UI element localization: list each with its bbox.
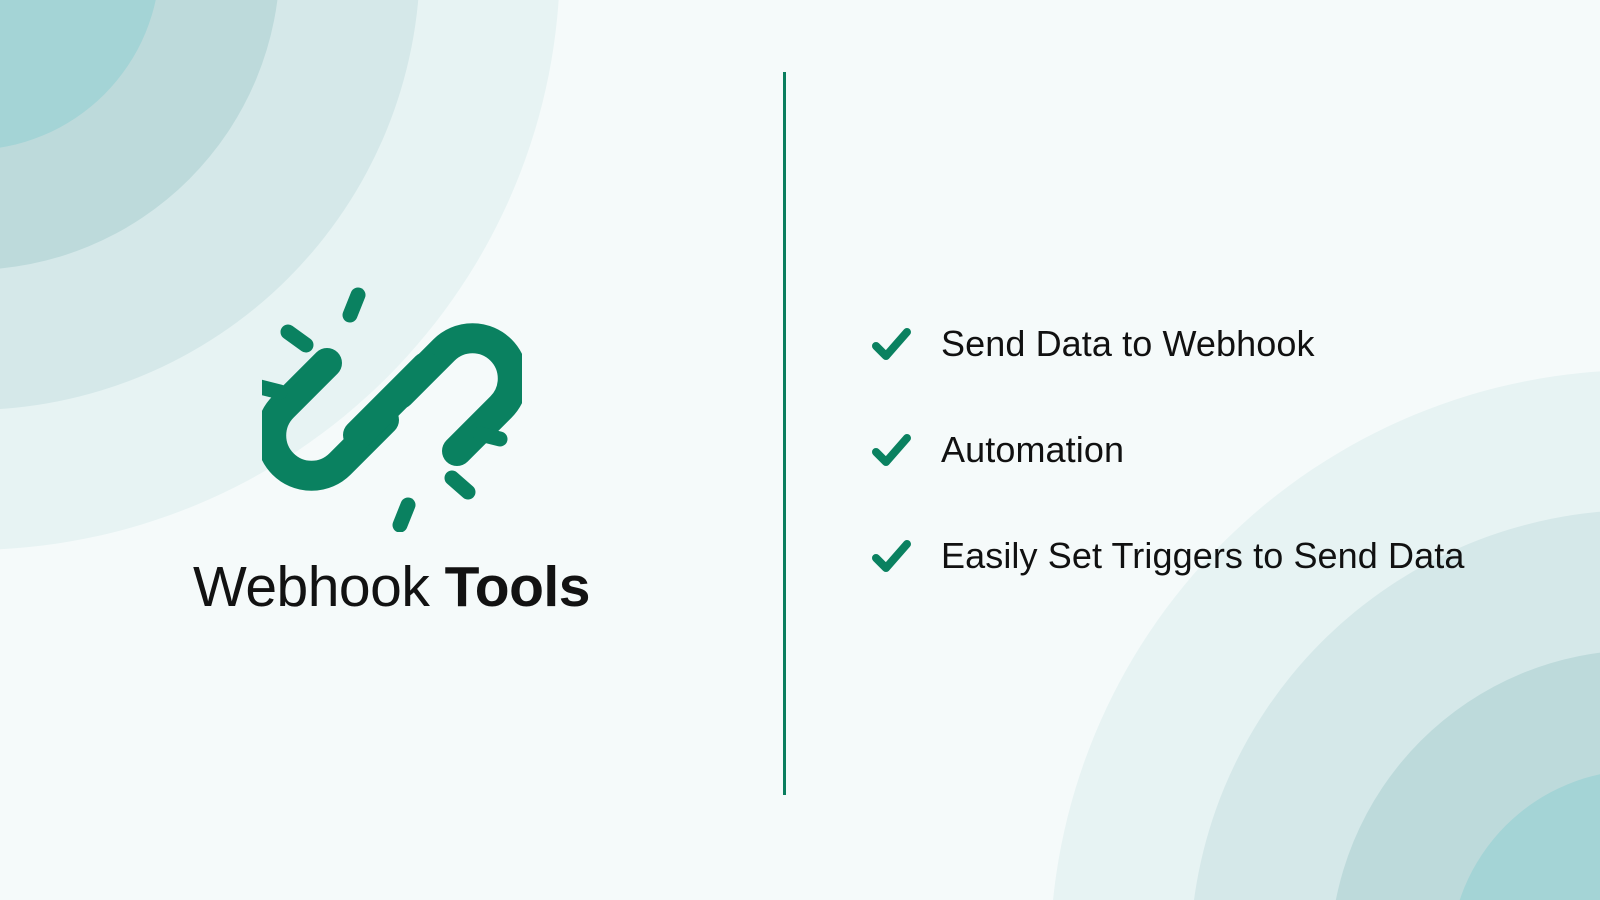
list-item: Automation	[869, 397, 1600, 503]
page-title: Webhook Tools	[193, 558, 590, 618]
slide-content: Webhook Tools Send Data to Webhook	[0, 0, 1600, 900]
brand-panel: Webhook Tools	[0, 0, 783, 900]
list-item: Send Data to Webhook	[869, 291, 1600, 397]
list-item: Easily Set Triggers to Send Data	[869, 503, 1600, 609]
chain-link-icon	[262, 282, 522, 532]
check-icon	[869, 428, 913, 472]
features-panel: Send Data to Webhook Automation Easily S…	[783, 0, 1600, 900]
feature-label: Send Data to Webhook	[941, 323, 1315, 365]
slide-canvas: Webhook Tools Send Data to Webhook	[0, 0, 1600, 900]
feature-label: Easily Set Triggers to Send Data	[941, 535, 1464, 577]
check-icon	[869, 534, 913, 578]
check-icon	[869, 322, 913, 366]
feature-label: Automation	[941, 429, 1124, 471]
feature-list: Send Data to Webhook Automation Easily S…	[869, 291, 1600, 609]
brand-title-light: Webhook	[193, 555, 429, 619]
brand-title-bold: Tools	[445, 555, 590, 619]
